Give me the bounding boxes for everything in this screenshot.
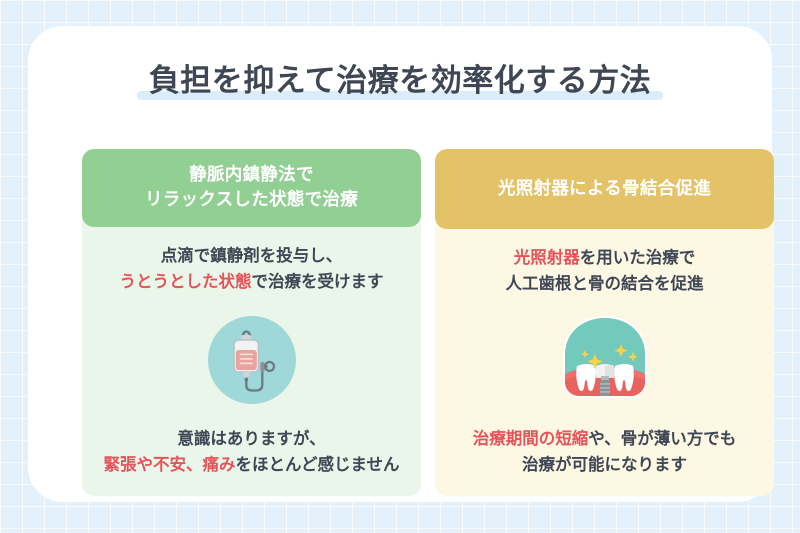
card-sedation: 静脈内鎮静法で リラックスした状態で治療 点滴で鎮静剤を投与し、 うとうとした状…	[82, 149, 421, 496]
photo-top-line1: を用いた治療で	[580, 249, 696, 267]
sedation-top-line1: 点滴で鎮静剤を投与し、	[161, 247, 343, 265]
photobiomodulation-header-line1: 光照射器による骨結合促進	[498, 176, 711, 201]
card-photobiomodulation-body: 光照射器を用いた治療で 人工歯根と骨の結合を促進	[435, 229, 774, 496]
card-photobiomodulation: 光照射器による骨結合促進 光照射器を用いた治療で 人工歯根と骨の結合を促進	[435, 149, 774, 496]
sedation-bottom-line2: をほとんど感じません	[235, 456, 399, 474]
card-sedation-illustration	[94, 295, 409, 426]
sedation-top-line2: で治療を受けます	[252, 273, 384, 291]
iv-drip-glyph	[224, 328, 280, 392]
photo-top-accent: 光照射器	[514, 249, 580, 267]
card-container: 静脈内鎮静法で リラックスした状態で治療 点滴で鎮静剤を投与し、 うとうとした状…	[82, 149, 774, 496]
page-title: 負担を抑えて治療を効率化する方法	[28, 64, 772, 98]
iv-drip-icon	[208, 316, 296, 404]
content-panel: 負担を抑えて治療を効率化する方法 静脈内鎮静法で リラックスした状態で治療 点滴…	[28, 26, 772, 502]
photo-bottom-line2: 治療が可能になります	[522, 456, 687, 474]
card-sedation-header-line2: リラックスした状態で治療	[92, 187, 411, 212]
card-photobiomodulation-bottom-text: 治療期間の短縮や、骨が薄い方でも 治療が可能になります	[473, 426, 737, 478]
card-sedation-top-text: 点滴で鎮静剤を投与し、 うとうとした状態で治療を受けます	[120, 243, 384, 295]
card-sedation-header: 静脈内鎮静法で リラックスした状態で治療	[82, 149, 421, 227]
card-photobiomodulation-illustration	[447, 297, 762, 426]
photo-bottom-accent: 治療期間の短縮	[473, 430, 589, 448]
card-sedation-bottom-text: 意識はありますが、 緊張や不安、痛みをほとんど感じません	[103, 426, 399, 478]
card-sedation-header-line1: 静脈内鎮静法で	[92, 162, 411, 187]
card-photobiomodulation-top-text: 光照射器を用いた治療で 人工歯根と骨の結合を促進	[506, 245, 704, 297]
photo-top-line2: 人工歯根と骨の結合を促進	[506, 275, 704, 293]
card-sedation-body: 点滴で鎮静剤を投与し、 うとうとした状態で治療を受けます	[82, 227, 421, 496]
page-title-text: 負担を抑えて治療を効率化する方法	[149, 63, 651, 98]
card-photobiomodulation-header: 光照射器による骨結合促進	[435, 149, 774, 229]
sedation-bottom-line1: 意識はありますが、	[177, 430, 325, 448]
sedation-top-accent: うとうとした状態	[120, 273, 252, 291]
photo-bottom-line1: や、骨が薄い方でも	[588, 430, 736, 448]
dental-implant-icon	[553, 314, 657, 410]
sedation-bottom-accent: 緊張や不安、痛み	[103, 456, 235, 474]
